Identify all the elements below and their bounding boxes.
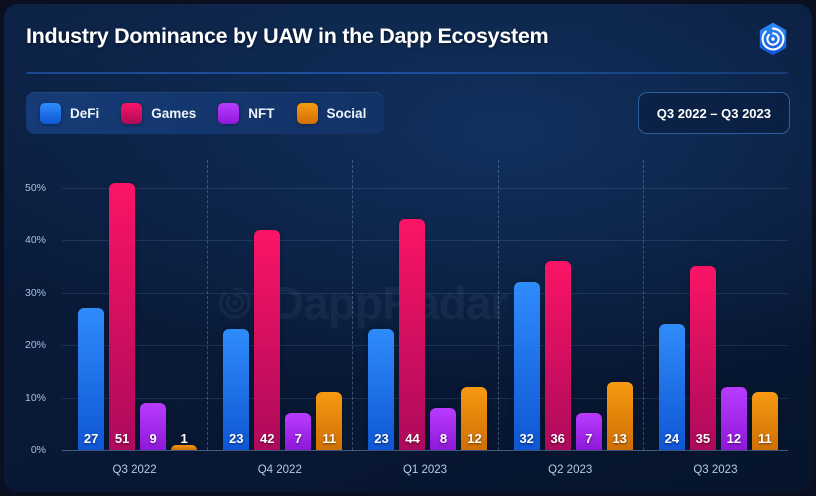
chart-plot-area: 0%10%20%30%40%50%275191Q3 20222342711Q4 …: [62, 172, 788, 450]
bar-value-label: 23: [368, 431, 394, 446]
chart-card: Industry Dominance by UAW in the Dapp Ec…: [4, 4, 812, 492]
bar-value-label: 11: [316, 431, 342, 446]
bar-games[interactable]: [690, 266, 716, 450]
y-axis-tick-label: 30%: [25, 287, 46, 299]
bar-games[interactable]: [109, 183, 135, 451]
dappradar-hexagon-logo-icon: [754, 20, 792, 58]
x-axis-tick-label: Q3 2023: [635, 464, 795, 476]
bar-value-label: 11: [752, 431, 778, 446]
x-axis-tick-label: Q2 2023: [490, 464, 650, 476]
bar-value-label: 23: [223, 431, 249, 446]
bar-value-label: 7: [285, 431, 311, 446]
bar-value-label: 44: [399, 431, 425, 446]
y-axis-tick-label: 20%: [25, 339, 46, 351]
legend-item-social[interactable]: Social: [297, 103, 367, 124]
group-separator: [498, 160, 499, 450]
group-separator: [207, 160, 208, 450]
legend-swatch-defi-icon: [40, 103, 61, 124]
bar-value-label: 42: [254, 431, 280, 446]
bar-value-label: 32: [514, 431, 540, 446]
bar-value-label: 27: [78, 431, 104, 446]
bar-games[interactable]: [399, 219, 425, 450]
y-axis-tick-label: 40%: [25, 234, 46, 246]
legend-swatch-social-icon: [297, 103, 318, 124]
bar-value-label: 24: [659, 431, 685, 446]
x-axis-tick-label: Q4 2022: [200, 464, 360, 476]
bar-value-label: 36: [545, 431, 571, 446]
legend-label: NFT: [248, 106, 274, 121]
legend-label: DeFi: [70, 106, 99, 121]
bar-value-label: 8: [430, 431, 456, 446]
legend-swatch-games-icon: [121, 103, 142, 124]
group-separator: [352, 160, 353, 450]
bar-group: 24351211Q3 2023: [643, 172, 788, 450]
bar-value-label: 35: [690, 431, 716, 446]
legend-swatch-nft-icon: [218, 103, 239, 124]
legend-item-nft[interactable]: NFT: [218, 103, 274, 124]
legend-item-defi[interactable]: DeFi: [40, 103, 99, 124]
bar-group: 275191Q3 2022: [62, 172, 207, 450]
x-axis-tick-label: Q3 2022: [55, 464, 215, 476]
bar-value-label: 13: [607, 431, 633, 446]
bar-defi[interactable]: [78, 308, 104, 450]
bar-group: 2342711Q4 2022: [207, 172, 352, 450]
date-range-badge[interactable]: Q3 2022 – Q3 2023: [638, 92, 790, 134]
y-axis-tick-label: 0%: [31, 444, 46, 456]
page-title: Industry Dominance by UAW in the Dapp Ec…: [26, 24, 548, 49]
bar-value-label: 1: [171, 431, 197, 446]
chart-legend: DeFiGamesNFTSocial: [26, 92, 384, 134]
header-divider: [26, 72, 788, 74]
bar-value-label: 51: [109, 431, 135, 446]
legend-label: Games: [151, 106, 196, 121]
chart-header: Industry Dominance by UAW in the Dapp Ec…: [4, 4, 812, 70]
group-separator: [643, 160, 644, 450]
bar-group: 2344812Q1 2023: [352, 172, 497, 450]
bar-value-label: 7: [576, 431, 602, 446]
gridline: [62, 450, 788, 451]
bar-value-label: 12: [461, 431, 487, 446]
x-axis-tick-label: Q1 2023: [345, 464, 505, 476]
y-axis-tick-label: 10%: [25, 392, 46, 404]
bar-games[interactable]: [545, 261, 571, 450]
bar-value-label: 12: [721, 431, 747, 446]
legend-item-games[interactable]: Games: [121, 103, 196, 124]
y-axis-tick-label: 50%: [25, 182, 46, 194]
bar-games[interactable]: [254, 230, 280, 450]
bar-group: 3236713Q2 2023: [498, 172, 643, 450]
bar-defi[interactable]: [514, 282, 540, 450]
legend-label: Social: [327, 106, 367, 121]
bar-value-label: 9: [140, 431, 166, 446]
